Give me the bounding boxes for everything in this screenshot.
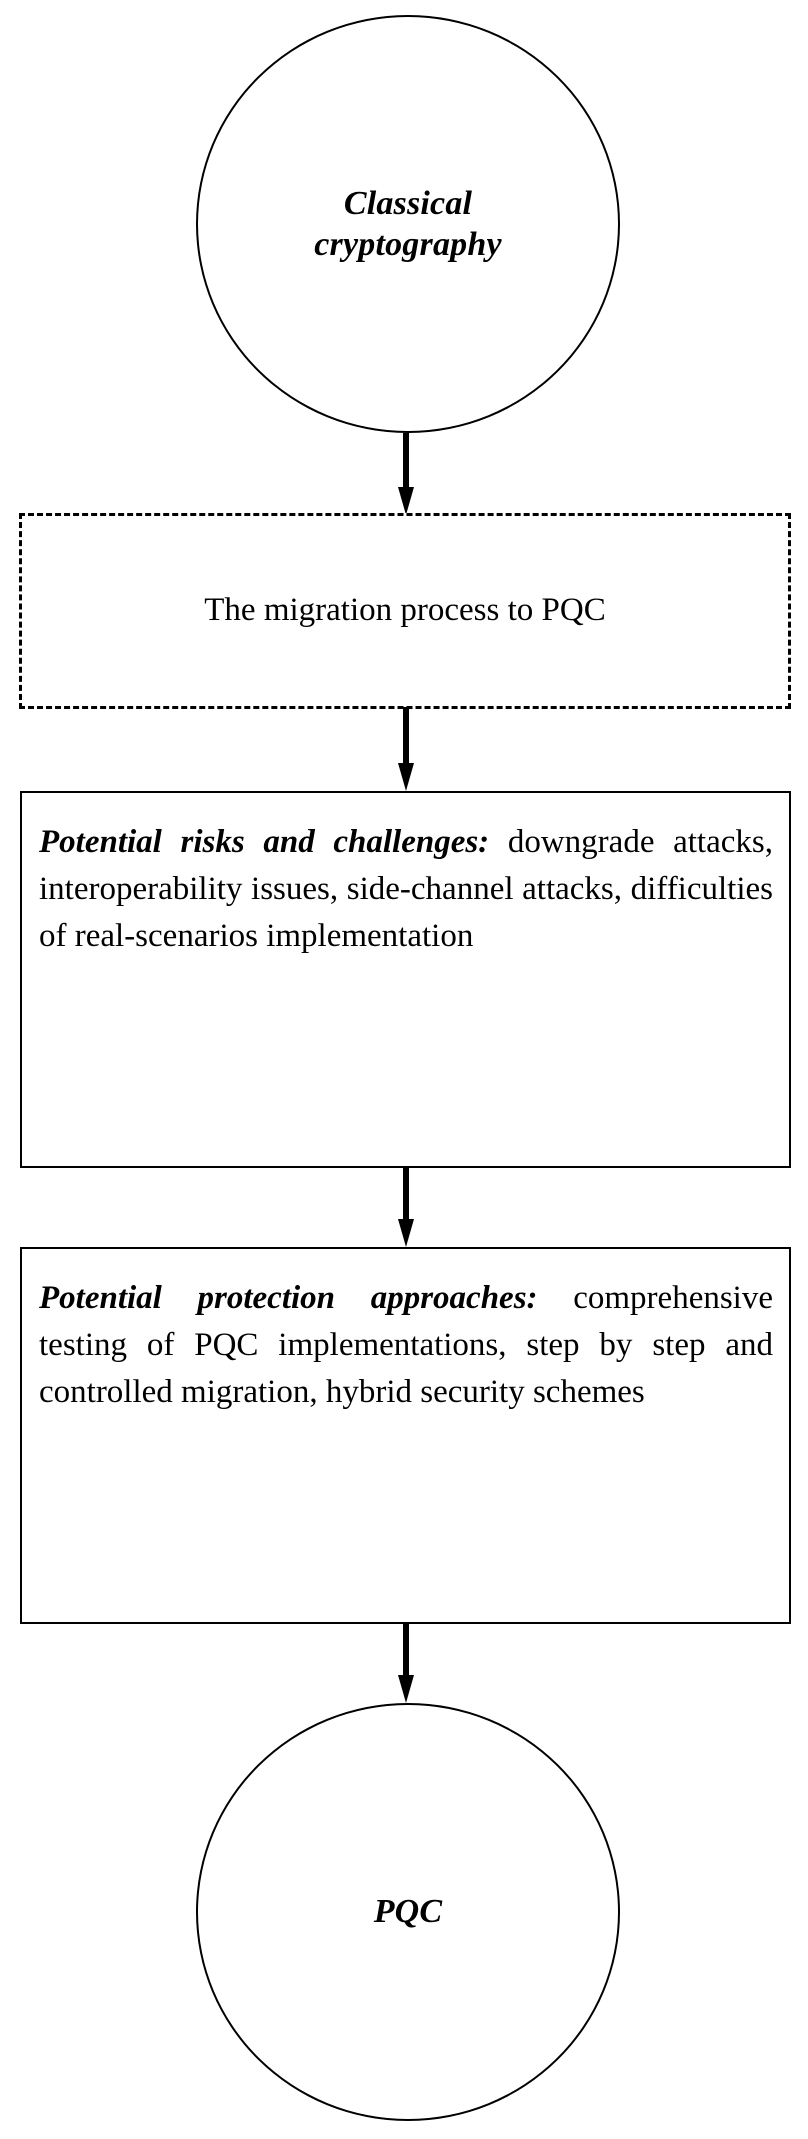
node-classical-cryptography: Classical cryptography: [196, 15, 620, 433]
arrow-down-icon-protection-to-pqc: [398, 1622, 414, 1705]
arrow-head: [398, 1675, 414, 1703]
arrow-down-icon-migration-to-risks: [398, 707, 414, 793]
node-potential-protection: Potential protection approaches: compreh…: [20, 1247, 791, 1624]
node-classical-cryptography-label: Classical cryptography: [278, 183, 538, 266]
arrow-head: [398, 763, 414, 791]
arrow-down-icon-classical-to-migration: [398, 433, 414, 515]
arrow-shaft: [403, 1622, 409, 1677]
arrow-head: [398, 1219, 414, 1247]
arrow-head: [398, 487, 414, 515]
flowchart-canvas: Classical cryptography The migration pro…: [0, 0, 808, 2139]
arrow-down-icon-risks-to-protection: [398, 1166, 414, 1249]
node-potential-risks: Potential risks and challenges: downgrad…: [20, 791, 791, 1168]
node-migration-process: The migration process to PQC: [19, 513, 791, 709]
node-potential-protection-text: Potential protection approaches: compreh…: [39, 1275, 773, 1416]
node-pqc: PQC: [196, 1703, 620, 2121]
node-pqc-label: PQC: [278, 1891, 538, 1932]
node-migration-process-label: The migration process to PQC: [204, 591, 605, 631]
arrow-shaft: [403, 433, 409, 489]
node-potential-risks-lead: Potential risks and challenges:: [39, 824, 489, 860]
node-potential-protection-lead: Potential protection approaches:: [39, 1280, 538, 1316]
arrow-shaft: [403, 707, 409, 765]
node-potential-risks-text: Potential risks and challenges: downgrad…: [39, 819, 773, 960]
arrow-shaft: [403, 1166, 409, 1221]
